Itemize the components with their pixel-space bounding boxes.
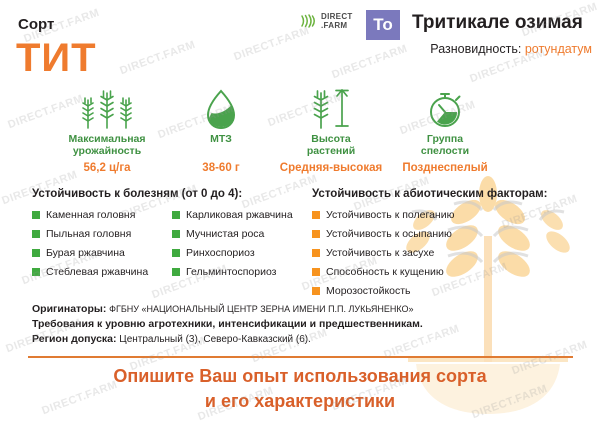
bullet-square-icon <box>172 211 180 219</box>
list-item: Морозостойкость <box>312 285 597 297</box>
bullet-square-icon <box>172 268 180 276</box>
stat-caption-line1: Максимальная <box>42 134 172 146</box>
crop-code-badge: To <box>366 10 400 40</box>
list-item: Каменная головня <box>32 209 172 221</box>
info-block: Оригинаторы: ФГБНУ «НАЦИОНАЛЬНЫЙ ЦЕНТР З… <box>32 302 577 347</box>
list-item: Карликовая ржавчина <box>172 209 312 221</box>
requirements-row: Требования к уровню агротехники, интенси… <box>32 317 577 332</box>
disease-list-column-2: Карликовая ржавчина Мучнистая роса Ринхо… <box>172 209 312 285</box>
originators-row: Оригинаторы: ФГБНУ «НАЦИОНАЛЬНЫЙ ЦЕНТР З… <box>32 302 577 317</box>
list-item-label: Пыльная головня <box>46 228 131 240</box>
requirements-text: Требования к уровню агротехники, интенси… <box>32 318 423 330</box>
variety-label: Разновидность: <box>430 42 521 56</box>
list-item: Устойчивость к засухе <box>312 247 597 259</box>
list-item-label: Карликовая ржавчина <box>186 209 293 221</box>
list-item-label: Гельминтоспориоз <box>186 266 277 278</box>
originators-value: ФГБНУ «НАЦИОНАЛЬНЫЙ ЦЕНТР ЗЕРНА ИМЕНИ П.… <box>109 304 413 314</box>
list-item: Устойчивость к полеганию <box>312 209 597 221</box>
direct-farm-chevrons-icon <box>300 12 318 30</box>
list-item: Ринхоспориоз <box>172 247 312 259</box>
region-row: Регион допуска: Центральный (3), Северо-… <box>32 332 577 347</box>
disease-list-column-1: Каменная головня Пыльная головня Бурая р… <box>32 209 172 285</box>
abiotic-list: Устойчивость к полеганию Устойчивость к … <box>312 209 597 297</box>
list-item: Стеблевая ржавчина <box>32 266 172 278</box>
bullet-square-icon <box>312 249 320 257</box>
list-item-label: Способность к кущению <box>326 266 444 278</box>
list-item-label: Устойчивость к полеганию <box>326 209 454 221</box>
stat-value: 56,2 ц/га <box>42 162 172 174</box>
list-item-label: Ринхоспориоз <box>186 247 255 259</box>
card-header: Сорт ТИТ DIRECT .FARM To Тритикале озима… <box>0 0 600 84</box>
variety-line: Разновидность: ротундатум <box>430 42 592 56</box>
disease-section-title: Устойчивость к болезням (от 0 до 4): <box>32 188 312 200</box>
list-item-label: Каменная головня <box>46 209 135 221</box>
stopwatch-icon <box>380 86 510 130</box>
list-item-label: Устойчивость к засухе <box>326 247 434 259</box>
list-item-label: Морозостойкость <box>326 285 411 297</box>
logo-line-1: DIRECT <box>321 12 353 21</box>
originators-label: Оригинаторы: <box>32 303 106 315</box>
stat-value: Позднеспелый <box>380 162 510 174</box>
stat-caption-line2: спелости <box>380 146 510 158</box>
section-divider <box>28 356 573 358</box>
bullet-square-icon <box>172 249 180 257</box>
bullet-square-icon <box>312 230 320 238</box>
list-item: Пыльная головня <box>32 228 172 240</box>
stat-caption: Группа спелости <box>380 134 510 157</box>
cta-line-2: и его характеристики <box>0 389 600 414</box>
region-value: Центральный (3), Северо-Кавказский (6). <box>119 334 311 345</box>
stat-caption: Максимальная урожайность <box>42 134 172 157</box>
direct-farm-logo: DIRECT .FARM <box>300 12 353 30</box>
plant-height-ruler-icon <box>266 86 396 130</box>
abiotic-resistance-section: Устойчивость к абиотическим факторам: Ус… <box>312 188 597 304</box>
logo-line-2: .FARM <box>321 21 353 30</box>
stat-ripeness-group: Группа спелости Позднеспелый <box>380 86 510 174</box>
region-label: Регион допуска: <box>32 333 117 345</box>
list-item-label: Бурая ржавчина <box>46 247 125 259</box>
bullet-square-icon <box>32 249 40 257</box>
list-item: Мучнистая роса <box>172 228 312 240</box>
variety-info-card: DIRECT.FARM DIRECT.FARM DIRECT.FARM DIRE… <box>0 0 600 422</box>
stat-caption: Высота растений <box>266 134 396 157</box>
stat-caption-line2: растений <box>266 146 396 158</box>
bullet-square-icon <box>312 268 320 276</box>
call-to-action: Опишите Ваш опыт использования сорта и е… <box>0 364 600 414</box>
list-item-label: Устойчивость к осыпанию <box>326 228 452 240</box>
stat-caption-line1: Группа <box>380 134 510 146</box>
variety-value: ротундатум <box>525 42 592 56</box>
list-item: Гельминтоспориоз <box>172 266 312 278</box>
bullet-square-icon <box>312 211 320 219</box>
bullet-square-icon <box>32 230 40 238</box>
list-item-label: Стеблевая ржавчина <box>46 266 148 278</box>
bullet-square-icon <box>32 211 40 219</box>
stat-plant-height: Высота растений Средняя-высокая <box>266 86 396 174</box>
abiotic-section-title: Устойчивость к абиотическим факторам: <box>312 188 597 200</box>
disease-resistance-section: Устойчивость к болезням (от 0 до 4): Кам… <box>32 188 312 285</box>
stat-value: Средняя-высокая <box>266 162 396 174</box>
crop-title: Тритикале озимая <box>412 12 583 34</box>
wheat-stalks-icon <box>42 86 172 130</box>
stat-max-yield: Максимальная урожайность 56,2 ц/га <box>42 86 172 174</box>
sort-name: ТИТ <box>16 38 97 78</box>
bullet-square-icon <box>312 287 320 295</box>
stats-row: Максимальная урожайность 56,2 ц/га МТЗ 3… <box>0 86 600 178</box>
bullet-square-icon <box>172 230 180 238</box>
list-item: Устойчивость к осыпанию <box>312 228 597 240</box>
list-item: Бурая ржавчина <box>32 247 172 259</box>
list-item-label: Мучнистая роса <box>186 228 264 240</box>
stat-caption-line1: Высота <box>266 134 396 146</box>
bullet-square-icon <box>32 268 40 276</box>
stat-caption-line2: урожайность <box>42 146 172 158</box>
cta-line-1: Опишите Ваш опыт использования сорта <box>0 364 600 389</box>
list-item: Способность к кущению <box>312 266 597 278</box>
sort-label: Сорт <box>18 16 54 33</box>
